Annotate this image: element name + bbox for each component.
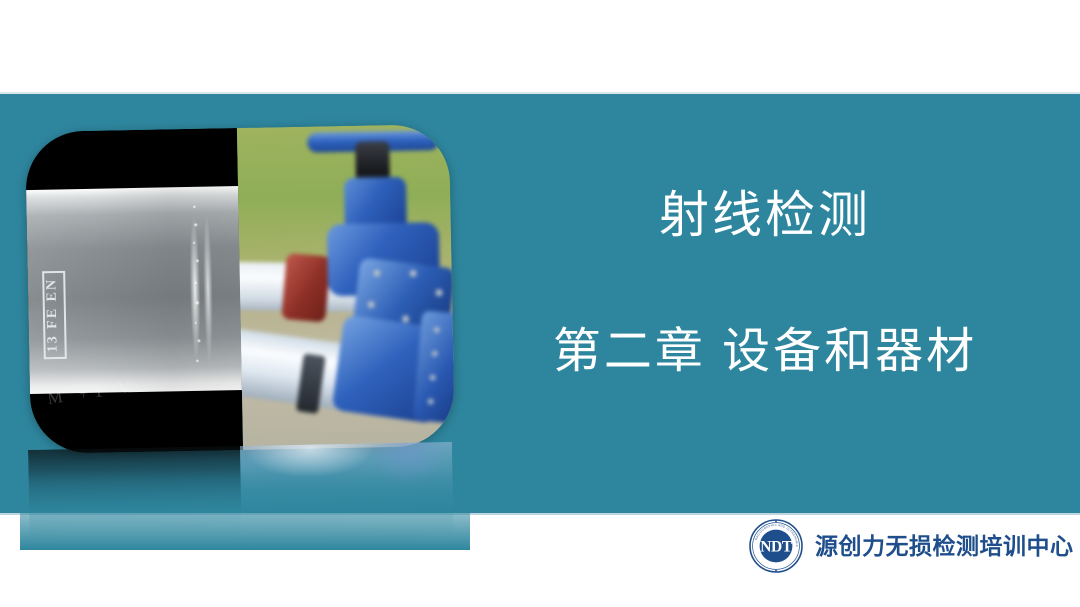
red-pipe-collar bbox=[281, 253, 330, 323]
title-block: 射线检测 第二章 设备和器材 bbox=[470, 190, 1060, 376]
radiograph-weld-film: 13 FE EN M +1 V bbox=[25, 128, 243, 454]
svg-text:NDT: NDT bbox=[760, 538, 793, 555]
presentation-slide: 13 FE EN M +1 V bbox=[0, 0, 1080, 607]
composite-picture[interactable]: 13 FE EN M +1 V bbox=[28, 128, 452, 450]
page-title: 射线检测 bbox=[470, 190, 1060, 240]
organization-name: 源创力无损检测培训中心 bbox=[815, 535, 1074, 558]
picture-frame: 13 FE EN M +1 V bbox=[25, 124, 455, 454]
ndt-badge-icon: RADIOGRAPHIC AND ULTRASONIC TEST CENTER … bbox=[748, 518, 804, 574]
brand-logo[interactable]: RADIOGRAPHIC AND ULTRASONIC TEST CENTER … bbox=[748, 518, 1074, 574]
radiograph-lead-marker: 13 FE EN bbox=[42, 271, 67, 359]
blue-industrial-valve-photo bbox=[237, 124, 455, 450]
band-bottom-hairline bbox=[0, 513, 1080, 515]
chapter-subtitle: 第二章 设备和器材 bbox=[470, 328, 1060, 376]
